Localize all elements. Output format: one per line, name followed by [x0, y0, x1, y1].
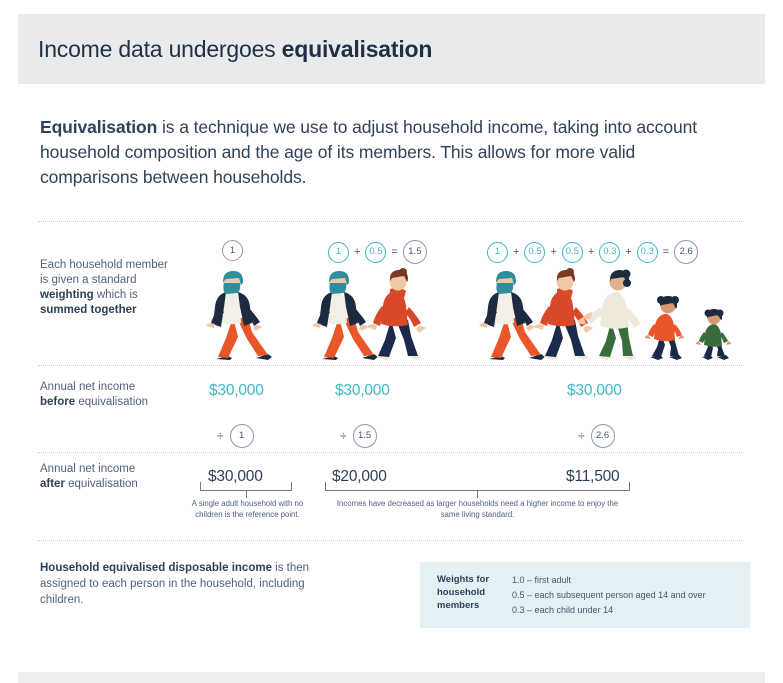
divide-icon: ÷: [578, 429, 585, 443]
household-illustrations: [0, 262, 783, 362]
weights-equation-household-2: 1 + 0.5 = 1.5: [328, 240, 427, 264]
divisor-household-1: ÷ 1: [217, 424, 254, 448]
weight-circle: 0.3: [637, 242, 658, 263]
weight-circle: 0.5: [365, 242, 386, 263]
divider-2: [38, 365, 744, 366]
person-child-orange: [645, 296, 684, 360]
income-before-household-1: $30,000: [209, 382, 264, 400]
divisor-circle: 2.6: [591, 424, 615, 448]
weight-circle: 0.5: [562, 242, 583, 263]
weight-circle: 1: [487, 242, 508, 263]
weights-legend-title: Weights for household members: [437, 573, 507, 612]
bottom-lead: Household equivalised disposable income: [40, 562, 272, 574]
weights-legend-list: 1.0 – first adult 0.5 – each subsequent …: [512, 573, 706, 618]
page-title: Income data undergoes equivalisation: [38, 36, 432, 63]
footer-bar: [18, 672, 765, 683]
label-before-bold: before: [40, 396, 75, 408]
divisor-circle: 1: [230, 424, 254, 448]
plus-operator: +: [354, 246, 360, 258]
plus-operator: +: [625, 246, 631, 258]
equals-operator: =: [663, 246, 669, 258]
weights-legend-item: 0.3 – each child under 14: [512, 603, 706, 618]
person-adult-hijab-2: [312, 271, 378, 360]
divisor-circle: 1.5: [353, 424, 377, 448]
weights-legend-item: 1.0 – first adult: [512, 573, 706, 588]
equals-operator: =: [391, 246, 397, 258]
person-adult-hijab-1: [206, 271, 272, 360]
infographic-page: Income data undergoes equivalisation Equ…: [0, 0, 783, 683]
intro-paragraph: Equivalisation is a technique we use to …: [40, 115, 710, 190]
label-after-line2: equivalisation: [65, 478, 138, 490]
weights-title-line3: members: [437, 600, 479, 611]
weight-circle: 0.3: [599, 242, 620, 263]
person-adult-cream-top: [577, 270, 641, 361]
plus-operator: +: [550, 246, 556, 258]
bracket-household-1: [200, 482, 292, 491]
divisor-household-2: ÷ 1.5: [340, 424, 377, 448]
weight-sum-circle: 1: [222, 240, 243, 261]
label-after-equivalisation: Annual net income after equivalisation: [40, 462, 205, 492]
label-before-equivalisation: Annual net income before equivalisation: [40, 380, 205, 410]
weight-sum-circle: 2.6: [674, 240, 698, 264]
weight-circle: 1: [328, 242, 349, 263]
divide-icon: ÷: [340, 429, 347, 443]
label-before-line1: Annual net income: [40, 381, 135, 393]
page-title-plain: Income data undergoes: [38, 36, 282, 62]
weight-circle: 0.5: [524, 242, 545, 263]
page-title-emphasis: equivalisation: [282, 36, 433, 62]
note-decreased-incomes: Incomes have decreased as larger househo…: [330, 499, 625, 520]
note-reference-point: A single adult household with no childre…: [180, 499, 315, 520]
label-before-line2: equivalisation: [75, 396, 148, 408]
weights-equation-household-1: 1: [222, 240, 243, 261]
weights-title-line1: Weights for: [437, 574, 489, 585]
income-before-household-2: $30,000: [335, 382, 390, 400]
divider-3: [38, 452, 744, 453]
weights-legend-box: Weights for household members 1.0 – firs…: [420, 562, 750, 628]
person-adult-red-coat-3: [534, 268, 593, 360]
person-child-green: [696, 309, 731, 360]
weights-equation-household-3: 1 + 0.5 + 0.5 + 0.3 + 0.3 = 2.6: [487, 240, 698, 264]
plus-operator: +: [513, 246, 519, 258]
label-after-line1: Annual net income: [40, 463, 135, 475]
divisor-household-3: ÷ 2.6: [578, 424, 615, 448]
divide-icon: ÷: [217, 429, 224, 443]
person-adult-hijab-3: [479, 271, 545, 360]
bracket-tick-2: [477, 491, 478, 498]
bracket-tick-1: [246, 491, 247, 498]
bracket-households-2-3: [325, 482, 630, 491]
person-adult-red-coat-2: [367, 268, 426, 360]
weights-title-line2: household: [437, 587, 485, 598]
bottom-description: Household equivalised disposable income …: [40, 560, 340, 608]
plus-operator: +: [588, 246, 594, 258]
divider-4: [38, 540, 744, 541]
weight-sum-circle: 1.5: [403, 240, 427, 264]
label-after-bold: after: [40, 478, 65, 490]
income-before-household-3: $30,000: [567, 382, 622, 400]
intro-lead: Equivalisation: [40, 117, 157, 137]
divider-1: [38, 221, 744, 222]
weights-legend-item: 0.5 – each subsequent person aged 14 and…: [512, 588, 706, 603]
